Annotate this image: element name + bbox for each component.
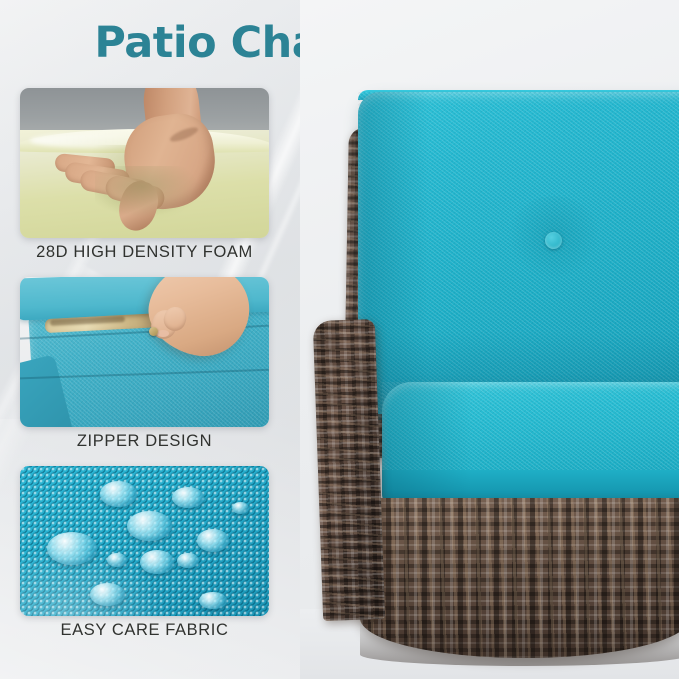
fabric-highlight [20,549,169,617]
zipper-thumbnail [20,277,269,427]
zipper-pull-icon [149,327,158,336]
zipper-caption: ZIPPER DESIGN [0,432,289,451]
infographic-canvas: Patio Chair Cushions 28D HIGH DENSITY FO… [0,0,679,679]
patio-chair-photo [300,0,679,679]
wicker-arm-front-post [313,319,385,621]
cushion-tuft-button [545,232,562,249]
water-droplet [172,487,204,508]
water-droplet [127,511,172,541]
water-droplet [199,592,226,609]
water-droplet [197,529,229,552]
fabric-caption: EASY CARE FABRIC [0,621,289,640]
wicker-base-shadow [360,620,679,666]
water-droplet [100,481,137,507]
foam-caption: 28D HIGH DENSITY FOAM [0,243,289,262]
wicker-highlight [313,319,385,621]
foam-thumbnail [20,88,269,238]
water-droplet [177,553,199,568]
water-droplet [232,502,249,514]
foam-contact-shadow [95,166,200,217]
fabric-thumbnail [20,466,269,616]
seat-cushion-shading [382,382,472,502]
